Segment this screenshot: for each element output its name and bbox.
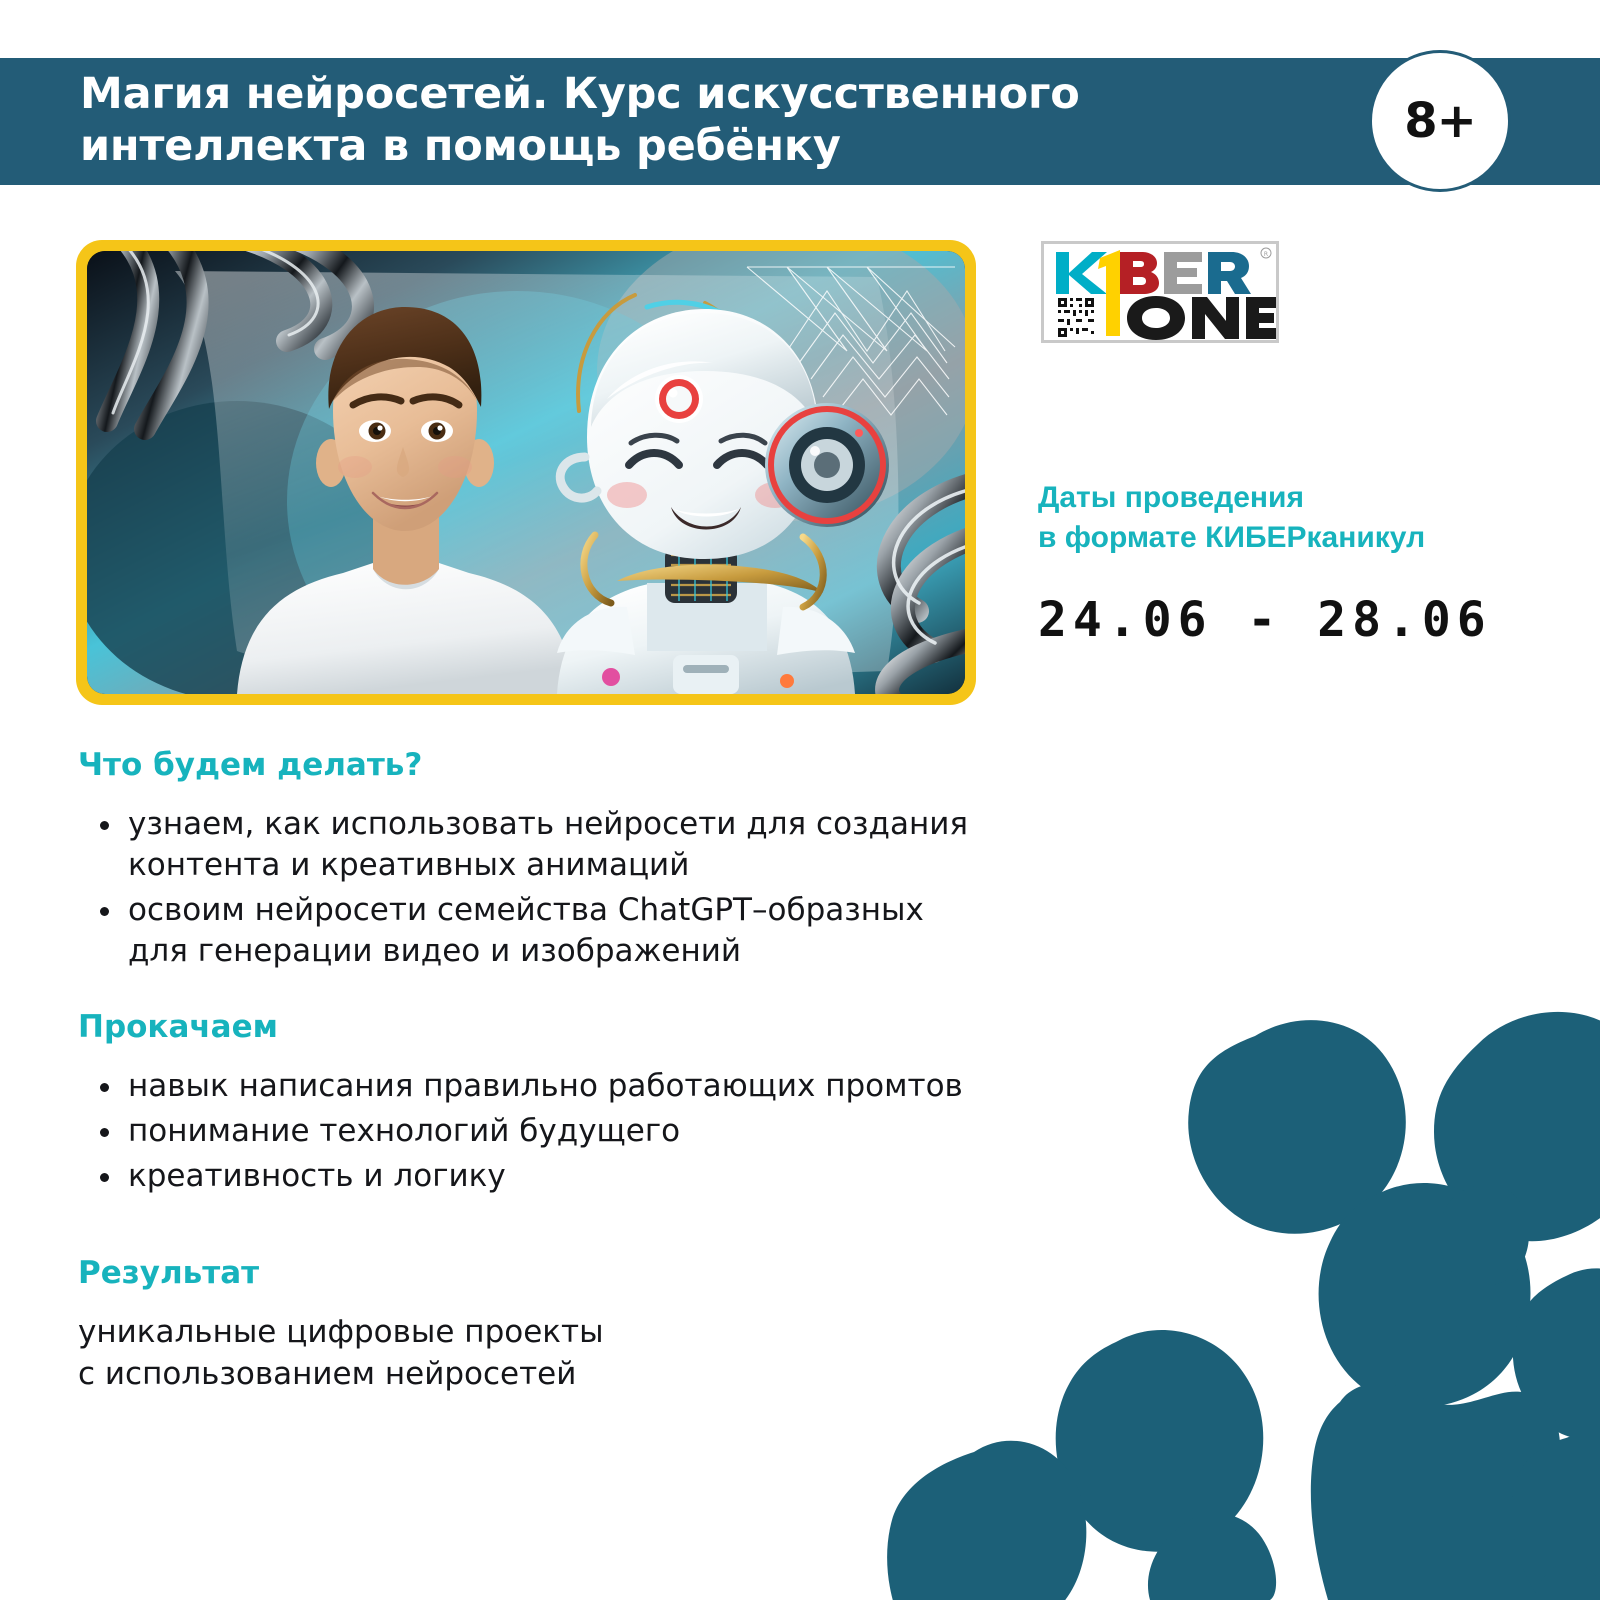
section-what-we-do: Что будем делать? узнаем, как использова… <box>78 748 1038 976</box>
blob-shape <box>1512 1434 1600 1600</box>
blob-shape <box>1148 1513 1276 1600</box>
section-result: Результат уникальные цифровые проекты с … <box>78 1256 1038 1395</box>
blob-shape <box>1056 1330 1264 1552</box>
list-item: освоим нейросети семейства ChatGPT–образ… <box>78 890 1038 972</box>
robot-ear-module <box>765 403 889 527</box>
result-body-text: уникальные цифровые проекты с использова… <box>78 1312 1038 1395</box>
age-rating-label: 8+ <box>1404 97 1476 145</box>
section-heading-result: Результат <box>78 1256 1038 1290</box>
logo-letter-e <box>1164 252 1202 294</box>
list-item: креативность и логику <box>78 1156 1038 1197</box>
blob-shape <box>1188 1020 1406 1234</box>
list-item: узнаем, как использовать нейросети для с… <box>78 804 1038 886</box>
blob-shape <box>887 1441 1086 1600</box>
list-item: навык написания правильно работающих про… <box>78 1066 1038 1107</box>
course-photo <box>87 251 965 694</box>
dates-range: 24.06 - 28.06 <box>1038 592 1492 648</box>
blob-shape <box>1311 1383 1560 1600</box>
dates-heading: Даты проведения в формате КИБЕРканикул <box>1038 478 1558 557</box>
blob-shape <box>1439 1184 1529 1286</box>
svg-text:R: R <box>1264 251 1268 258</box>
section-heading-what-we-do: Что будем делать? <box>78 748 1038 782</box>
section-upgrade: Прокачаем навык написания правильно рабо… <box>78 1010 1038 1201</box>
blob-shape <box>1434 1012 1600 1241</box>
bullet-list-what-we-do: узнаем, как использовать нейросети для с… <box>78 804 1038 972</box>
section-heading-upgrade: Прокачаем <box>78 1010 1038 1044</box>
course-photo-frame <box>76 240 976 705</box>
kiberone-logo-mark: R <box>1044 244 1276 340</box>
kiberone-logo: R <box>1041 241 1279 343</box>
poster-root: Магия нейросетей. Курс искусственного ин… <box>0 0 1600 1600</box>
blob-shape <box>1319 1183 1531 1407</box>
blob-shape <box>1513 1268 1600 1439</box>
list-item: понимание технологий будущего <box>78 1111 1038 1152</box>
bullet-list-upgrade: навык написания правильно работающих про… <box>78 1066 1038 1197</box>
page-title: Магия нейросетей. Курс искусственного ин… <box>80 68 1290 173</box>
age-rating-badge: 8+ <box>1369 50 1511 192</box>
blob-shape <box>1534 1563 1600 1600</box>
course-photo-illustration <box>87 251 965 694</box>
